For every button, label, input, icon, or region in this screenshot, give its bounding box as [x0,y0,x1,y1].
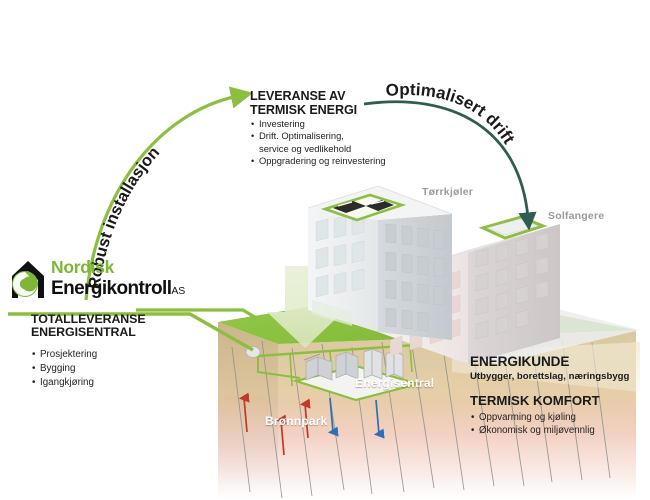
block-heading: TOTALLEVERANSE ENERGISENTRAL [31,313,231,340]
block-bullets: Investering Drift. Optimalisering, servi… [250,118,440,167]
nordisk-energikontroll-logo[interactable]: Nordisk EnergikontrollAS [8,258,208,304]
block-heading: LEVERANSE AV TERMISK ENERGI [250,90,440,117]
logo-suffix: AS [171,285,185,297]
block-leveranse-termisk-energi: LEVERANSE AV TERMISK ENERGI Investering … [250,90,440,167]
block-energikunde: ENERGIKUNDE Utbygger, borettslag, næring… [470,355,650,438]
block-totalleveranse-energisentral: TOTALLEVERANSE ENERGISENTRAL Prosjekteri… [31,313,231,390]
logo-line1: Nordisk [51,259,185,277]
block-heading: ENERGIKUNDE [470,355,650,370]
block-subheading: Utbygger, borettslag, næringsbygg [470,371,650,382]
block-bullets: Oppvarming og kjøling Økonomisk og miljø… [470,411,650,439]
label-energisentral: Energisentral [355,376,434,390]
label-torrkjoler: Tørrkjøler [422,186,473,198]
logo-mark-icon [8,258,50,302]
label-solfangere: Solfangere [548,210,604,222]
block-bullets: Prosjektering Bygging Igangkjøring [31,348,231,391]
block-heading-2: TERMISK KOMFORT [470,393,650,408]
logo-line2: EnergikontrollAS [51,279,185,298]
infographic-root: Robust installasjon Optimalisert drift N… [0,0,650,500]
label-bronnpark: Brønnpark [265,414,327,428]
